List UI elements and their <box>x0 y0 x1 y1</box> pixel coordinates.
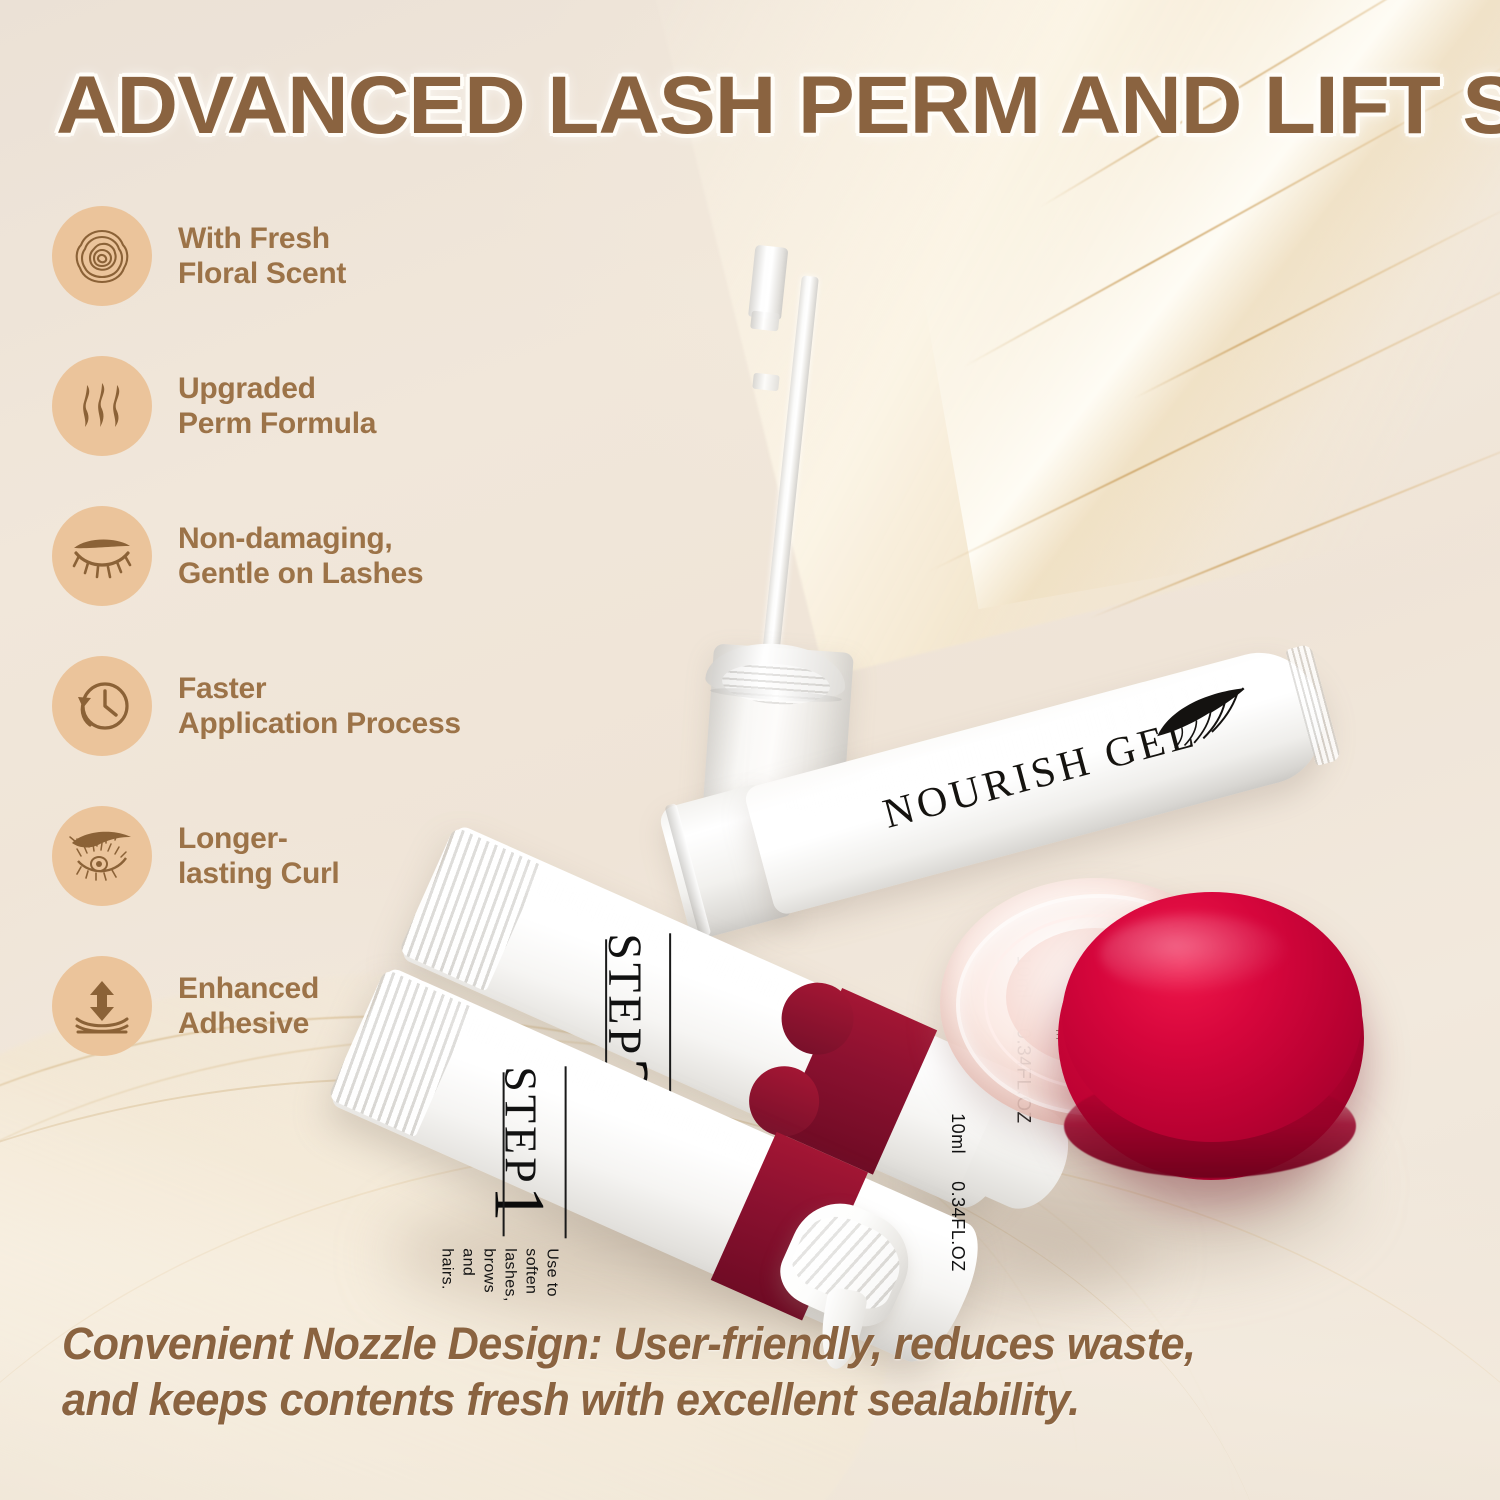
feature-text: Enhanced Adhesive <box>178 971 319 1041</box>
jar-lid-gloss <box>1100 914 1290 994</box>
feature-line-1: Longer- <box>178 821 339 856</box>
applicator-wand <box>758 275 819 694</box>
feature-line-2: Gentle on Lashes <box>178 556 423 591</box>
feature-item: With Fresh Floral Scent <box>52 206 482 306</box>
feature-line-2: Application Process <box>178 706 461 741</box>
feature-text: Longer- lasting Curl <box>178 821 339 891</box>
feature-icon-badge <box>52 806 152 906</box>
feature-text: Upgraded Perm Formula <box>178 371 376 441</box>
feature-line-1: Non-damaging, <box>178 521 423 556</box>
feature-icon-badge <box>52 656 152 756</box>
feature-item: Upgraded Perm Formula <box>52 356 482 456</box>
feature-item: Longer- lasting Curl <box>52 806 482 906</box>
cap-ring <box>664 803 711 937</box>
feature-line-1: Upgraded <box>178 371 376 406</box>
applicator-cap <box>748 245 788 320</box>
step1-usage-line3: hairs. <box>437 1248 458 1302</box>
feature-list: With Fresh Floral Scent Upgraded Perm Fo… <box>52 206 482 1106</box>
page-title: ADVANCED LASH PERM AND LIFT SOLUTION <box>56 64 1500 148</box>
feature-line-1: Enhanced <box>178 971 319 1006</box>
feature-item: Enhanced Adhesive <box>52 956 482 1056</box>
feature-icon-badge <box>52 206 152 306</box>
step1-usage-line2: lashes, brows and <box>458 1248 521 1302</box>
feature-text: With Fresh Floral Scent <box>178 221 346 291</box>
feature-item: Faster Application Process <box>52 656 482 756</box>
feature-text: Faster Application Process <box>178 671 461 741</box>
closed-eye-icon <box>69 525 135 587</box>
step1-rule-top <box>565 1066 567 1238</box>
hair-waves-icon <box>71 375 133 437</box>
feature-line-1: Faster <box>178 671 461 706</box>
lashed-eye-icon <box>68 825 136 887</box>
elastic-arrow-icon <box>71 975 133 1037</box>
feature-line-2: Perm Formula <box>178 406 376 441</box>
rose-icon <box>71 225 133 287</box>
product-infographic: NOURISH GEL STEP2 <box>0 0 1500 1500</box>
feature-icon-badge <box>52 956 152 1056</box>
feature-icon-badge <box>52 356 152 456</box>
bottom-caption: Convenient Nozzle Design: User-friendly,… <box>62 1316 1195 1428</box>
feature-line-2: lasting Curl <box>178 856 339 891</box>
feature-line-2: Adhesive <box>178 1006 319 1041</box>
step1-number: 1 <box>480 1186 560 1222</box>
step1-volume-oz: 0.34FL.OZ <box>948 1181 968 1272</box>
step1-rule-bottom <box>503 1072 505 1236</box>
caption-line-1: Convenient Nozzle Design: User-friendly,… <box>62 1316 1195 1372</box>
glue-jar: LASH LIFT GLUE 5g <box>940 862 1270 1162</box>
feature-line-1: With Fresh <box>178 221 346 256</box>
step1-usage-line1: Use to soften <box>521 1248 563 1302</box>
clock-rewind-icon <box>71 675 133 737</box>
product-photo: NOURISH GEL STEP2 <box>330 200 1500 1420</box>
wand-joint-upper <box>750 311 780 332</box>
wand-joint-lower <box>752 373 780 392</box>
feature-line-2: Floral Scent <box>178 256 346 291</box>
feature-icon-badge <box>52 506 152 606</box>
feature-text: Non-damaging, Gentle on Lashes <box>178 521 423 591</box>
feature-item: Non-damaging, Gentle on Lashes <box>52 506 482 606</box>
caption-line-2: and keeps contents fresh with excellent … <box>62 1372 1195 1428</box>
